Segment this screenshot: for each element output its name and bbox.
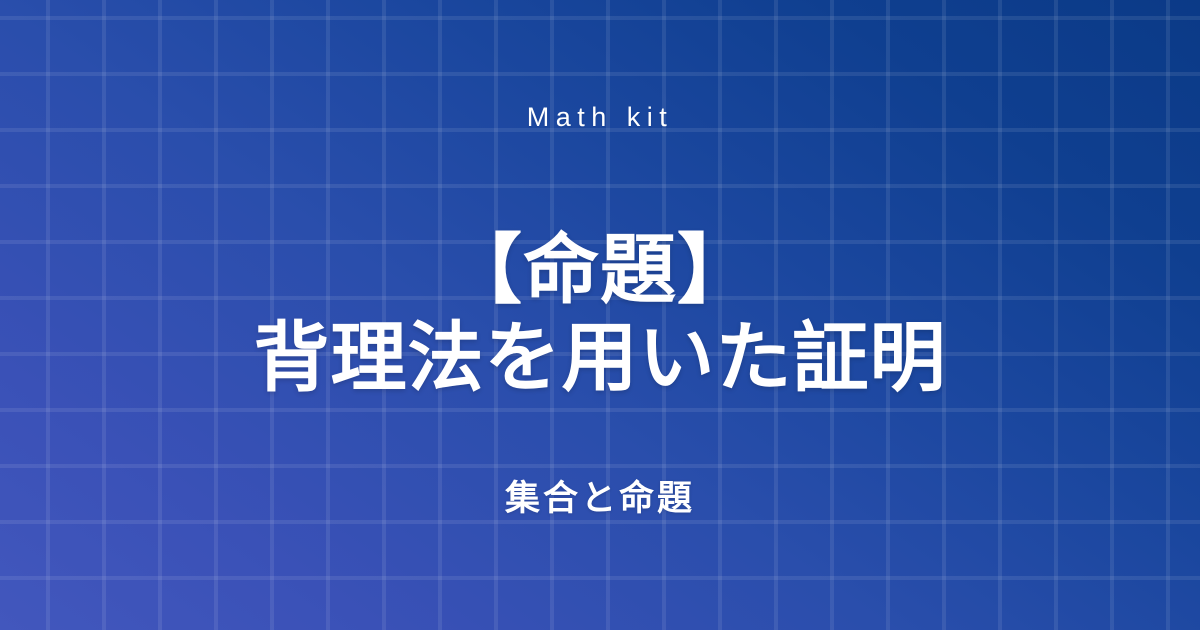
card-content: Math kit 【命題】 背理法を用いた証明 集合と命題 <box>0 0 1200 630</box>
category-subtitle: 集合と命題 <box>505 481 695 516</box>
site-brand-label: Math kit <box>527 104 674 131</box>
page-title-line-1: 【命題】 <box>0 227 1200 315</box>
page-title-line-2: 背理法を用いた証明 <box>0 315 1200 403</box>
og-card: Math kit 【命題】 背理法を用いた証明 集合と命題 <box>0 0 1200 630</box>
page-title: 【命題】 背理法を用いた証明 <box>0 227 1200 403</box>
